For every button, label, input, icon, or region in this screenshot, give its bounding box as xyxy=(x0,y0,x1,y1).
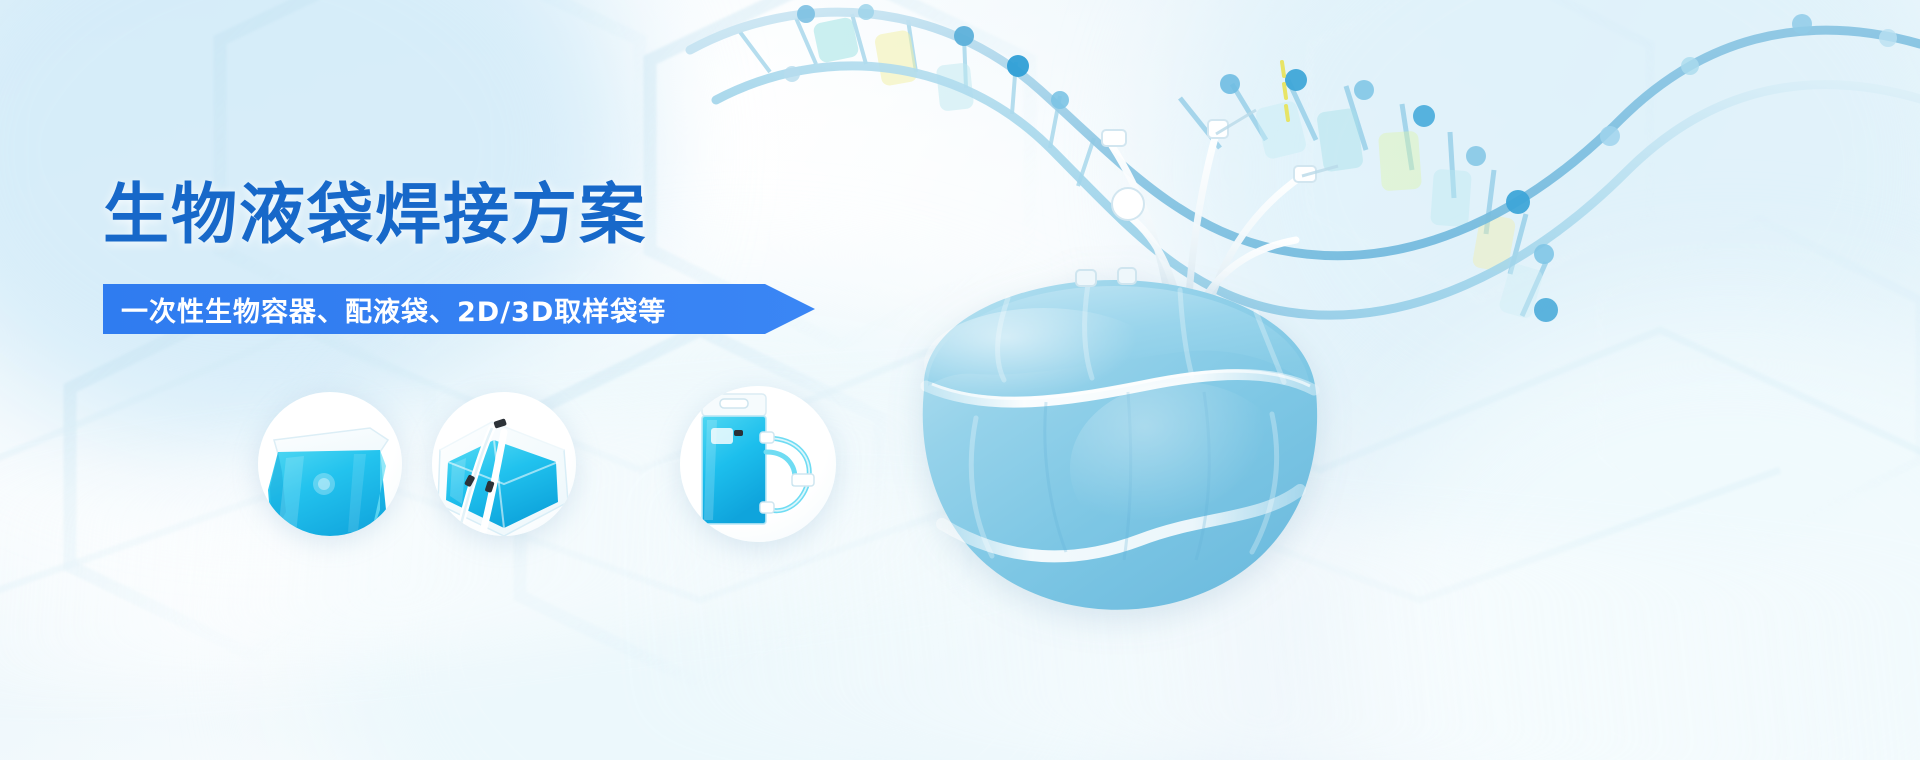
product-circle-2[interactable] xyxy=(432,392,576,536)
subtitle-text: 一次性生物容器、配液袋、2D/3D取样袋等 xyxy=(103,290,666,329)
banner-root: 生物液袋焊接方案 一次性生物容器、配液袋、2D/3D取样袋等 xyxy=(0,0,1920,760)
subtitle-banner: 一次性生物容器、配液袋、2D/3D取样袋等 xyxy=(103,284,815,334)
page-title: 生物液袋焊接方案 xyxy=(103,182,647,248)
bioprocess-bag-illustration xyxy=(880,268,1360,618)
product-circle-3[interactable] xyxy=(680,386,836,542)
liquid-bag-2d-icon xyxy=(258,392,402,536)
product-circle-1[interactable] xyxy=(258,392,402,536)
liquid-bag-with-tubes-icon xyxy=(432,392,576,536)
sampling-bag-icon xyxy=(680,386,836,542)
